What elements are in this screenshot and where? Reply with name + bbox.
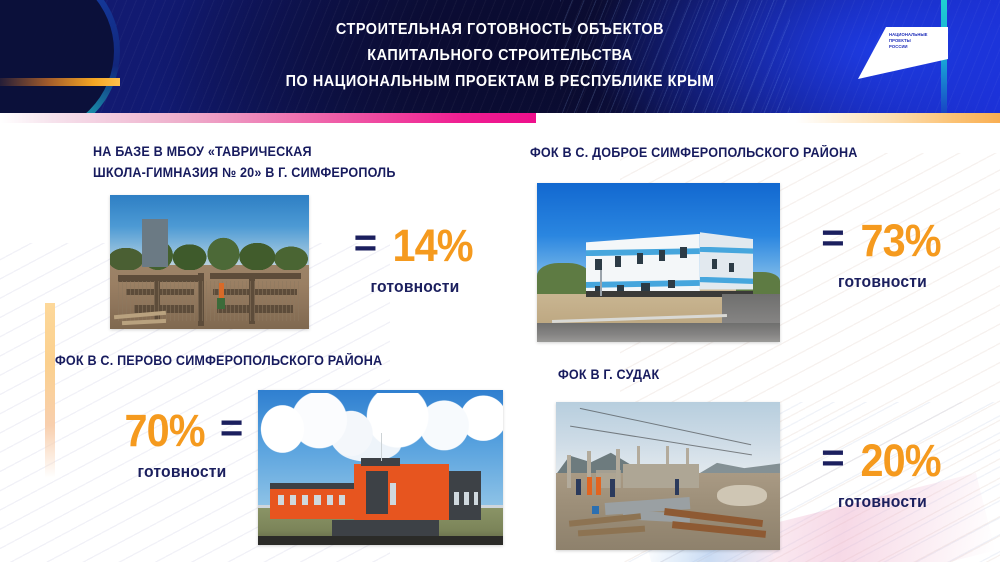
national-projects-logo: НАЦИОНАЛЬНЫЕ ПРОЕКТЫ РОССИИ [852, 23, 950, 83]
photo-treeline [110, 235, 309, 270]
equals-sign: = [821, 438, 844, 478]
page-title-line-2: КАПИТАЛЬНОГО СТРОИТЕЛЬСТВА [35, 43, 965, 69]
photo-window [278, 495, 284, 504]
photo-building-right [405, 464, 449, 520]
photo-worker [610, 479, 615, 497]
photo-fence [332, 520, 440, 536]
photo-window [302, 495, 308, 504]
photo-concrete-wall [623, 464, 699, 488]
photo-pole [600, 270, 602, 295]
readiness-percent: 14% [393, 223, 473, 268]
readiness-block-fok-dobroe: = 73% готовности [790, 218, 975, 292]
readiness-label: готовности [97, 463, 268, 482]
content-area: НА БАЗЕ В МБОУ «ТАВРИЧЕСКАЯ ШКОЛА-ГИМНАЗ… [0, 123, 1000, 562]
photo-window [729, 263, 734, 273]
photo-window [712, 259, 717, 269]
accent-strip-orange [536, 113, 1000, 123]
photo-worker [587, 477, 592, 495]
photo-window [474, 492, 479, 504]
page-title-line-3: ПО НАЦИОНАЛЬНЫМ ПРОЕКТАМ В РЕСПУБЛИКЕ КР… [35, 69, 965, 95]
photo-window [659, 250, 665, 261]
photo-window [454, 492, 459, 504]
photo-rebar-column [567, 455, 571, 488]
logo-text: НАЦИОНАЛЬНЫЕ ПРОЕКТЫ РОССИИ [889, 32, 947, 50]
photo-window [314, 495, 320, 504]
photo-road [537, 323, 780, 342]
slide-root: СТРОИТЕЛЬНАЯ ГОТОВНОСТЬ ОБЪЕКТОВ КАПИТАЛ… [0, 0, 1000, 562]
readiness-percent: 73% [860, 218, 940, 263]
photo-window [680, 247, 686, 258]
readiness-label: готовности [795, 493, 971, 512]
photo-window [595, 259, 601, 270]
equals-sign: = [220, 408, 243, 448]
photo-trench [210, 273, 302, 280]
object-title-fok-sudak: ФОК В Г. СУДАК [558, 364, 859, 385]
readiness-percent: 70% [124, 408, 204, 453]
object-title-tavricheskaya-school: НА БАЗЕ В МБОУ «ТАВРИЧЕСКАЯ ШКОЛА-ГИМНАЗ… [93, 141, 488, 183]
photo-window [339, 495, 345, 504]
object-photo-fok-dobroe [537, 183, 780, 342]
object-title-fok-perovo: ФОК В С. ПЕРОВО СИМФЕРОПОЛЬСКОГО РАЙОНА [55, 350, 450, 371]
photo-window [290, 495, 296, 504]
readiness-block-fok-perovo: 70% = готовности [92, 408, 272, 482]
object-photo-tavricheskaya-school [110, 195, 309, 329]
photo-rubble-pile [717, 485, 766, 506]
readiness-percent: 20% [860, 438, 940, 483]
photo-window [327, 495, 333, 504]
accent-strip [0, 113, 1000, 123]
photo-window [637, 253, 643, 264]
photo-worker [596, 477, 601, 495]
readiness-value-row: 70% = [92, 408, 272, 453]
photo-greenery [537, 263, 590, 295]
readiness-value-row: = 20% [790, 438, 975, 483]
equals-sign: = [354, 223, 377, 263]
page-title-line-1: СТРОИТЕЛЬНАЯ ГОТОВНОСТЬ ОБЪЕКТОВ [35, 17, 965, 43]
photo-worker [576, 479, 581, 495]
photo-foreground-strip [258, 536, 503, 545]
photo-window [615, 256, 621, 267]
photo-worker [219, 283, 224, 298]
readiness-value-row: = 73% [790, 218, 975, 263]
equals-sign: = [821, 218, 844, 258]
photo-background-tower [142, 219, 168, 267]
readiness-label: готовности [334, 278, 496, 297]
object-photo-fok-sudak [556, 402, 780, 550]
readiness-block-fok-sudak: = 20% готовности [790, 438, 975, 512]
photo-worker [217, 298, 225, 309]
accent-strip-pink [0, 113, 536, 123]
logo-text-line-3: РОССИИ [889, 44, 947, 50]
photo-building-dark-panel [366, 471, 388, 514]
photo-worker [675, 479, 679, 495]
readiness-label: готовности [795, 273, 971, 292]
object-title-fok-dobroe: ФОК В С. ДОБРОЕ СИМФЕРОПОЛЬСКОГО РАЙОНА [530, 142, 925, 163]
object-photo-fok-perovo [258, 390, 503, 545]
photo-blue-bucket [592, 506, 600, 515]
decor-vertical-bar-left [45, 303, 55, 478]
readiness-value-row: = 14% [330, 223, 500, 268]
photo-window [668, 280, 674, 288]
photo-window [390, 483, 395, 505]
photo-window [464, 492, 469, 504]
readiness-block-tavricheskaya-school: = 14% готовности [330, 223, 500, 297]
photo-mast [381, 433, 383, 461]
photo-building-roofband [270, 483, 353, 489]
page-title: СТРОИТЕЛЬНАЯ ГОТОВНОСТЬ ОБЪЕКТОВ КАПИТАЛ… [35, 17, 965, 95]
header-banner: СТРОИТЕЛЬНАЯ ГОТОВНОСТЬ ОБЪЕКТОВ КАПИТАЛ… [0, 0, 1000, 113]
